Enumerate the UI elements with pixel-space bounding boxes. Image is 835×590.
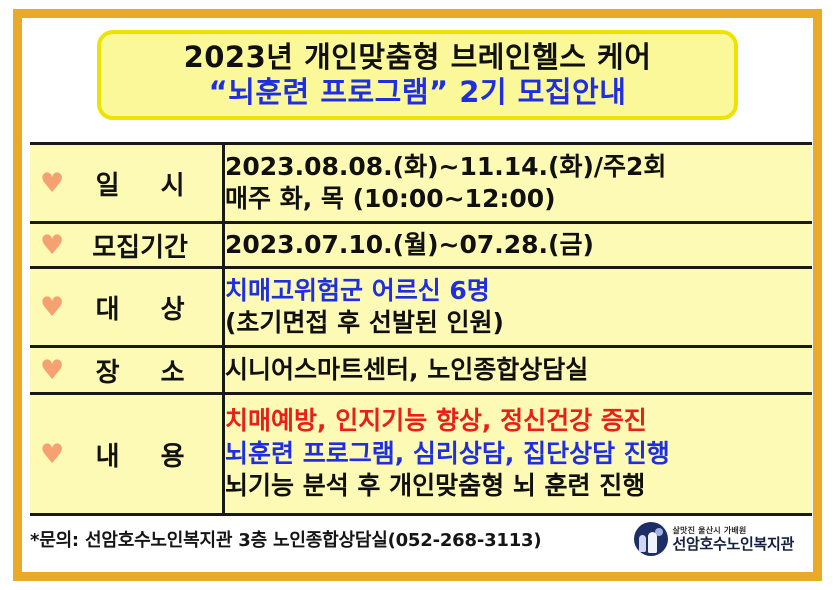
title-line-2: “뇌훈련 프로그램” 2기 모집안내 <box>209 76 627 109</box>
row-label-target: 대 상 <box>70 289 222 326</box>
table-row: ♥ 장 소 시니어스마트센터, 노인종합상담실 <box>30 347 812 394</box>
title-box: 2023년 개인맞춤형 브레인헬스 케어 “뇌훈련 프로그램” 2기 모집안내 <box>97 30 738 120</box>
value-line: (초기면접 후 선발된 인원) <box>225 307 812 340</box>
value-line: 2023.07.10.(월)~07.28.(금) <box>225 229 812 262</box>
heart-icon: ♥ <box>40 294 64 321</box>
row-value-cell: 2023.07.10.(월)~07.28.(금) <box>224 223 813 268</box>
table-row: ♥ 일 시 2023.08.08.(화)~11.14.(화)/주2회 매주 화,… <box>30 144 812 223</box>
value-line: 매주 화, 목 (10:00~12:00) <box>225 183 812 216</box>
row-value-cell: 치매고위험군 어르신 6명 (초기면접 후 선발된 인원) <box>224 268 813 347</box>
heart-icon: ♥ <box>40 170 64 197</box>
value-line: 치매고위험군 어르신 6명 <box>225 275 812 308</box>
value-line: 뇌기능 분석 후 개인맞춤형 뇌 훈련 진행 <box>225 470 812 503</box>
footer: *문의: 선암호수노인복지관 3층 노인종합상담실(052-268-3113) … <box>30 518 812 560</box>
row-label-cell: ♥ 장 소 <box>30 347 224 394</box>
logo-tagline: 살맛진 울산시 가배원 <box>672 527 794 535</box>
value-line: 2023.08.08.(화)~11.14.(화)/주2회 <box>225 151 812 184</box>
heart-icon: ♥ <box>40 232 64 259</box>
logo-spark-icon <box>655 528 663 536</box>
logo-text-block: 살맛진 울산시 가배원 선암호수노인복지관 <box>672 527 794 552</box>
heart-icon: ♥ <box>40 441 64 468</box>
program-info-table: ♥ 일 시 2023.08.08.(화)~11.14.(화)/주2회 매주 화,… <box>30 142 812 516</box>
row-label-period: 모집기간 <box>70 227 222 264</box>
logo-emblem-icon <box>634 522 668 556</box>
poster-root: 2023년 개인맞춤형 브레인헬스 케어 “뇌훈련 프로그램” 2기 모집안내 … <box>0 0 835 590</box>
table-row: ♥ 대 상 치매고위험군 어르신 6명 (초기면접 후 선발된 인원) <box>30 268 812 347</box>
row-value-cell: 2023.08.08.(화)~11.14.(화)/주2회 매주 화, 목 (10… <box>224 144 813 223</box>
row-label-cell: ♥ 모집기간 <box>30 223 224 268</box>
row-label-cell: ♥ 내 용 <box>30 394 224 515</box>
row-label-place: 장 소 <box>70 352 222 389</box>
row-value-cell: 치매예방, 인지기능 향상, 정신건강 증진 뇌훈련 프로그램, 심리상담, 집… <box>224 394 813 515</box>
logo-name: 선암호수노인복지관 <box>672 537 794 552</box>
contact-note: *문의: 선암호수노인복지관 3층 노인종합상담실(052-268-3113) <box>30 526 541 552</box>
row-label-cell: ♥ 대 상 <box>30 268 224 347</box>
row-value-cell: 시니어스마트센터, 노인종합상담실 <box>224 347 813 394</box>
value-line: 치매예방, 인지기능 향상, 정신건강 증진 <box>225 405 812 438</box>
row-label-cell: ♥ 일 시 <box>30 144 224 223</box>
value-line: 시니어스마트센터, 노인종합상담실 <box>225 354 812 387</box>
title-line-1: 2023년 개인맞춤형 브레인헬스 케어 <box>184 41 652 74</box>
row-label-content: 내 용 <box>70 436 222 473</box>
organization-logo: 살맛진 울산시 가배원 선암호수노인복지관 <box>634 522 812 556</box>
value-line: 뇌훈련 프로그램, 심리상담, 집단상담 진행 <box>225 438 812 471</box>
row-label-date: 일 시 <box>70 165 222 202</box>
table-row: ♥ 모집기간 2023.07.10.(월)~07.28.(금) <box>30 223 812 268</box>
heart-icon: ♥ <box>40 357 64 384</box>
table-row: ♥ 내 용 치매예방, 인지기능 향상, 정신건강 증진 뇌훈련 프로그램, 심… <box>30 394 812 515</box>
